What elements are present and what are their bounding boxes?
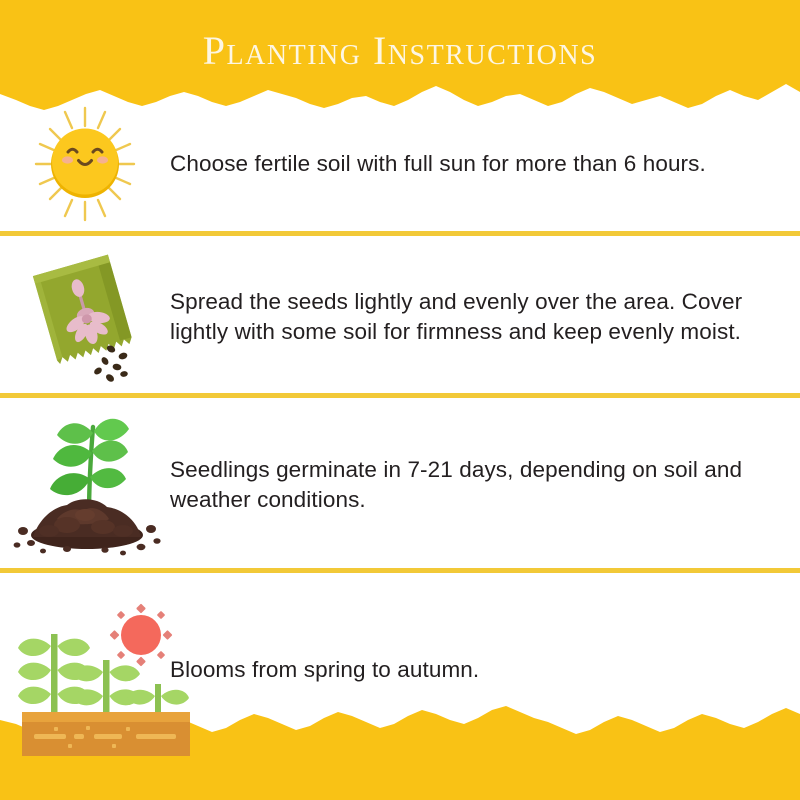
planting-instructions-poster: Planting Instructions: [0, 0, 800, 800]
soil-mound: [31, 499, 143, 549]
divider-rule-2: [0, 393, 800, 398]
step-row-2: Spread the seeds lightly and evenly over…: [0, 243, 800, 391]
soil-bed: [22, 712, 190, 756]
step-2-text: Spread the seeds lightly and evenly over…: [170, 287, 800, 347]
seedling-in-soil-icon: [5, 407, 165, 563]
step-row-3: Seedlings germinate in 7-21 days, depend…: [0, 401, 800, 569]
seed-packet-icon: [10, 247, 160, 387]
step-3-text: Seedlings germinate in 7-21 days, depend…: [170, 455, 800, 515]
step-2-icon-slot: [0, 247, 170, 387]
step-4-text: Blooms from spring to autumn.: [170, 655, 800, 685]
divider-rule-1: [0, 231, 800, 236]
smiling-sun-icon: [10, 102, 160, 226]
step-3-icon-slot: [0, 407, 170, 563]
step-1-text: Choose fertile soil with full sun for mo…: [170, 149, 800, 179]
page-title: Planting Instructions: [0, 28, 800, 74]
plant-short: [127, 684, 189, 716]
plants-with-sun-icon: [8, 598, 208, 758]
step-row-1: Choose fertile soil with full sun for mo…: [0, 112, 800, 216]
plant-medium: [72, 660, 140, 716]
header-band: Planting Instructions: [0, 0, 800, 118]
small-square-ray-sun: [110, 604, 173, 667]
step-1-icon-slot: [0, 102, 170, 226]
